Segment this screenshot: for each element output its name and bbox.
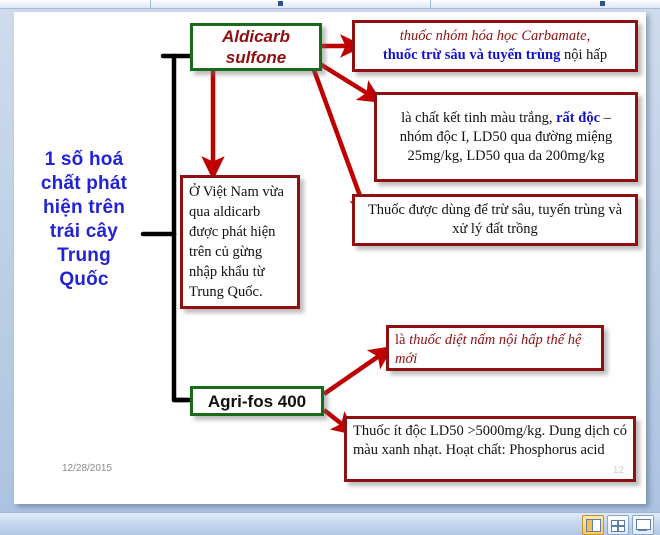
node-usage-info[interactable]: Thuốc được dùng để trừ sâu, tuyến trùng … — [352, 194, 638, 246]
reading-view-icon[interactable] — [632, 515, 654, 535]
fungicide-part2: thuốc diệt nấm nội hấp thế hệ mới — [395, 332, 581, 367]
vietnam-text: Ở Việt Nam vừa qua aldicarb được phát hi… — [183, 178, 297, 304]
title-line: hiện trên — [24, 196, 144, 220]
title-line: Quốc — [24, 268, 144, 292]
title-line: Trung — [24, 244, 144, 268]
slide-title[interactable]: 1 số hoá chất phát hiện trên trái cây Tr… — [24, 148, 144, 292]
view-buttons-group — [582, 515, 654, 535]
carbamate-line2-highlight: thuốc trừ sâu và tuyến trùng — [383, 47, 560, 63]
toxicity-part1: là chất kết tinh màu trắng, — [401, 110, 556, 126]
title-line: chất phát — [24, 172, 144, 196]
title-line: 1 số hoá — [24, 148, 144, 172]
slide-canvas[interactable]: 1 số hoá chất phát hiện trên trái cây Tr… — [14, 12, 646, 504]
title-line: trái cây — [24, 220, 144, 244]
agrifos-detail-text: Thuốc ít độc LD50 >5000mg/kg. Dung dịch … — [347, 419, 633, 462]
ruler-tick — [430, 0, 431, 8]
powerpoint-window: 1 số hoá chất phát hiện trên trái cây Tr… — [0, 0, 660, 535]
ruler-tick — [150, 0, 151, 8]
node-toxicity-info[interactable]: là chất kết tinh màu trắng, rất độc – nh… — [374, 92, 638, 182]
toxicity-highlight: rất độc — [556, 110, 600, 126]
node-aldicarb-sulfone[interactable]: Aldicarb sulfone — [190, 23, 322, 71]
node-agrifos-label: Agri-fos 400 — [208, 391, 306, 412]
arrow-agrifos-to-fungicide — [324, 349, 389, 394]
usage-text: Thuốc được dùng để trừ sâu, tuyến trùng … — [355, 199, 635, 241]
slide-sorter-view-icon[interactable] — [607, 515, 629, 535]
fungicide-part1: là — [395, 332, 409, 348]
node-vietnam-info[interactable]: Ở Việt Nam vừa qua aldicarb được phát hi… — [180, 175, 300, 309]
node-fungicide-info[interactable]: là thuốc diệt nấm nội hấp thế hệ mới — [386, 325, 604, 371]
node-aldicarb-label-line1: Aldicarb — [222, 26, 290, 47]
node-agrifos-detail[interactable]: Thuốc ít độc LD50 >5000mg/kg. Dung dịch … — [344, 416, 636, 482]
carbamate-line2-rest: nội hấp — [560, 47, 607, 63]
normal-view-icon[interactable] — [582, 515, 604, 535]
ruler-tab-mark[interactable] — [600, 1, 605, 6]
ruler-tab-mark[interactable] — [278, 1, 283, 6]
ruler-strip — [0, 0, 660, 9]
carbamate-line1: thuốc nhóm hóa học Carbamate, — [383, 27, 607, 46]
date-stamp: 12/28/2015 — [62, 463, 112, 474]
node-agrifos-400[interactable]: Agri-fos 400 — [190, 386, 324, 416]
node-aldicarb-label-line2: sulfone — [222, 47, 290, 68]
status-bar — [0, 512, 660, 535]
slide-page-number: 12 — [613, 465, 624, 476]
node-carbamate-info[interactable]: thuốc nhóm hóa học Carbamate, thuốc trừ … — [352, 20, 638, 72]
